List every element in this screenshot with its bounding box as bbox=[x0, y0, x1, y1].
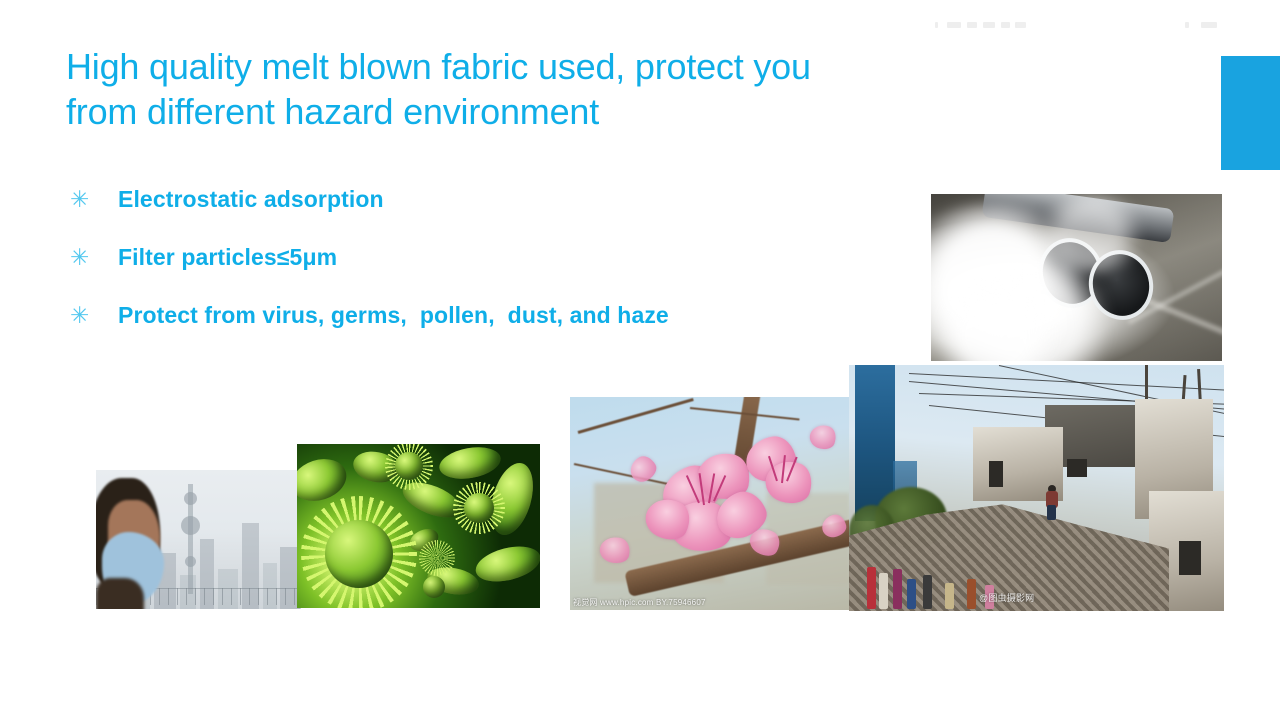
green-microbes-photo bbox=[297, 444, 540, 608]
page-title: High quality melt blown fabric used, pro… bbox=[66, 44, 996, 134]
photo-watermark: 视觉网 www.hpic.com BY.75946607 bbox=[573, 598, 706, 607]
asterisk-bullet-icon: ✳ bbox=[64, 184, 118, 214]
smog-skyline-masked-person-photo bbox=[96, 470, 301, 609]
list-item-label: Filter particles≤5μm bbox=[118, 242, 337, 272]
asterisk-bullet-icon: ✳ bbox=[64, 300, 118, 330]
list-item: ✳ Filter particles≤5μm bbox=[64, 242, 914, 300]
feature-bullet-list: ✳ Electrostatic adsorption ✳ Filter part… bbox=[64, 184, 914, 358]
cherry-blossom-pollen-photo: 视觉网 www.hpic.com BY.75946607 bbox=[570, 397, 850, 610]
list-item: ✳ Protect from virus, germs, pollen, dus… bbox=[64, 300, 914, 358]
asterisk-bullet-icon: ✳ bbox=[64, 242, 118, 272]
list-item-label: Electrostatic adsorption bbox=[118, 184, 384, 214]
slide-canvas: High quality melt blown fabric used, pro… bbox=[0, 0, 1280, 720]
header-faint-marks bbox=[935, 18, 1225, 32]
photo-watermark: @图虫摄影网 bbox=[979, 594, 1034, 603]
list-item-label: Protect from virus, germs, pollen, dust,… bbox=[118, 300, 669, 330]
car-exhaust-smoke-photo bbox=[931, 194, 1222, 361]
person-figure bbox=[1045, 485, 1058, 519]
list-item: ✳ Electrostatic adsorption bbox=[64, 184, 914, 242]
demolition-rubble-photo: @图虫摄影网 bbox=[849, 365, 1224, 611]
accent-rectangle bbox=[1221, 56, 1280, 170]
